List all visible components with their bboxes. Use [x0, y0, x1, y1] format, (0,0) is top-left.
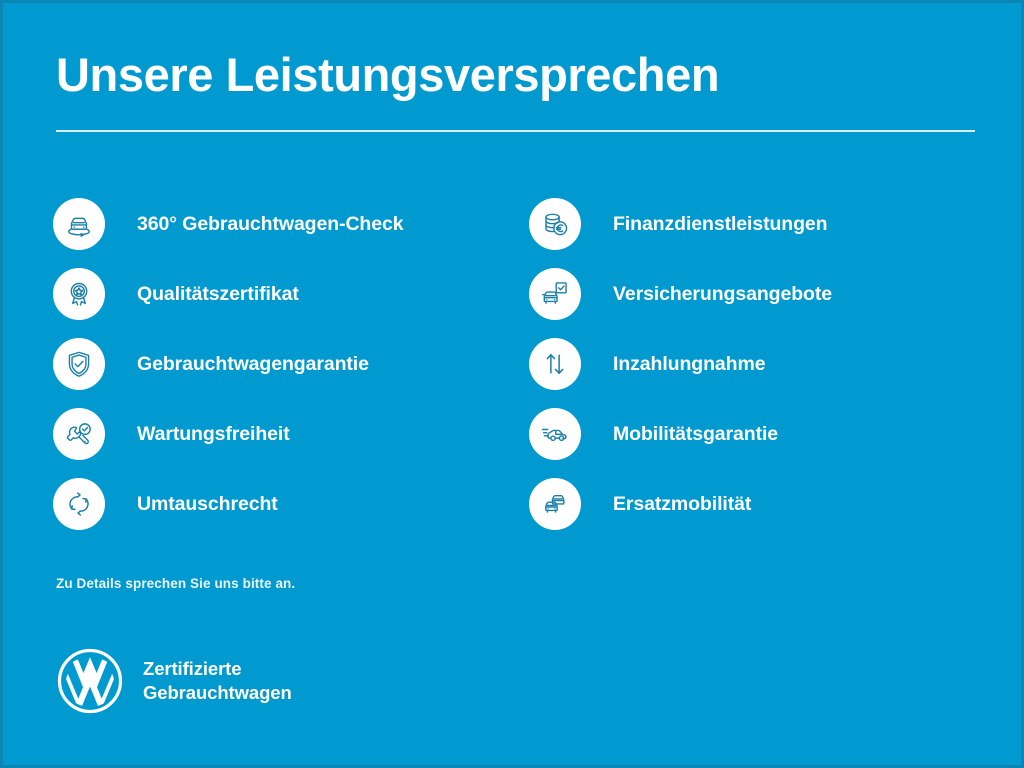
- promise-item[interactable]: Ersatzmobilität: [529, 469, 832, 539]
- page-title: Unsere Leistungsversprechen: [56, 50, 719, 99]
- promise-label: Umtauschrecht: [137, 493, 278, 516]
- promise-item[interactable]: Umtauschrecht: [53, 469, 403, 539]
- volkswagen-logo-icon: [56, 647, 124, 715]
- award-ribbon-star-icon: [53, 268, 105, 320]
- promise-item[interactable]: Finanzdienstleistungen: [529, 189, 832, 259]
- promise-label: 360° Gebrauchtwagen-Check: [137, 213, 403, 236]
- promises-left-column: 360° Gebrauchtwagen-Check Qualitätszerti…: [53, 189, 403, 539]
- car-speed-lines-icon: [529, 408, 581, 460]
- footnote-text: Zu Details sprechen Sie uns bitte an.: [56, 576, 295, 591]
- promise-item[interactable]: Gebrauchtwagengarantie: [53, 329, 403, 399]
- promise-slide: Unsere Leistungsversprechen 360° Ge: [0, 0, 1024, 768]
- brand-line-1: Zertifizierte: [143, 657, 292, 681]
- promise-item[interactable]: Inzahlungnahme: [529, 329, 832, 399]
- promise-item[interactable]: Qualitätszertifikat: [53, 259, 403, 329]
- promise-label: Ersatzmobilität: [613, 493, 751, 516]
- promise-label: Mobilitätsgarantie: [613, 423, 778, 446]
- promise-label: Qualitätszertifikat: [137, 283, 299, 306]
- shield-check-icon: [53, 338, 105, 390]
- arrows-up-down-icon: [529, 338, 581, 390]
- brand-text: Zertifizierte Gebrauchtwagen: [143, 657, 292, 706]
- car-360-rotation-icon: [53, 198, 105, 250]
- promise-label: Wartungsfreiheit: [137, 423, 290, 446]
- car-document-check-icon: [529, 268, 581, 320]
- brand-lockup: Zertifizierte Gebrauchtwagen: [56, 647, 292, 715]
- promise-item[interactable]: Mobilitätsgarantie: [529, 399, 832, 469]
- promise-item[interactable]: Wartungsfreiheit: [53, 399, 403, 469]
- title-divider: [56, 130, 975, 132]
- exchange-arrows-icon: [53, 478, 105, 530]
- promise-item[interactable]: Versicherungsangebote: [529, 259, 832, 329]
- brand-line-2: Gebrauchtwagen: [143, 681, 292, 705]
- two-cars-icon: [529, 478, 581, 530]
- promise-label: Gebrauchtwagengarantie: [137, 353, 369, 376]
- promise-label: Finanzdienstleistungen: [613, 213, 827, 236]
- promise-item[interactable]: 360° Gebrauchtwagen-Check: [53, 189, 403, 259]
- promises-right-column: Finanzdienstleistungen: [529, 189, 832, 539]
- promise-label: Versicherungsangebote: [613, 283, 832, 306]
- coins-euro-icon: [529, 198, 581, 250]
- wrench-check-icon: [53, 408, 105, 460]
- promise-label: Inzahlungnahme: [613, 353, 765, 376]
